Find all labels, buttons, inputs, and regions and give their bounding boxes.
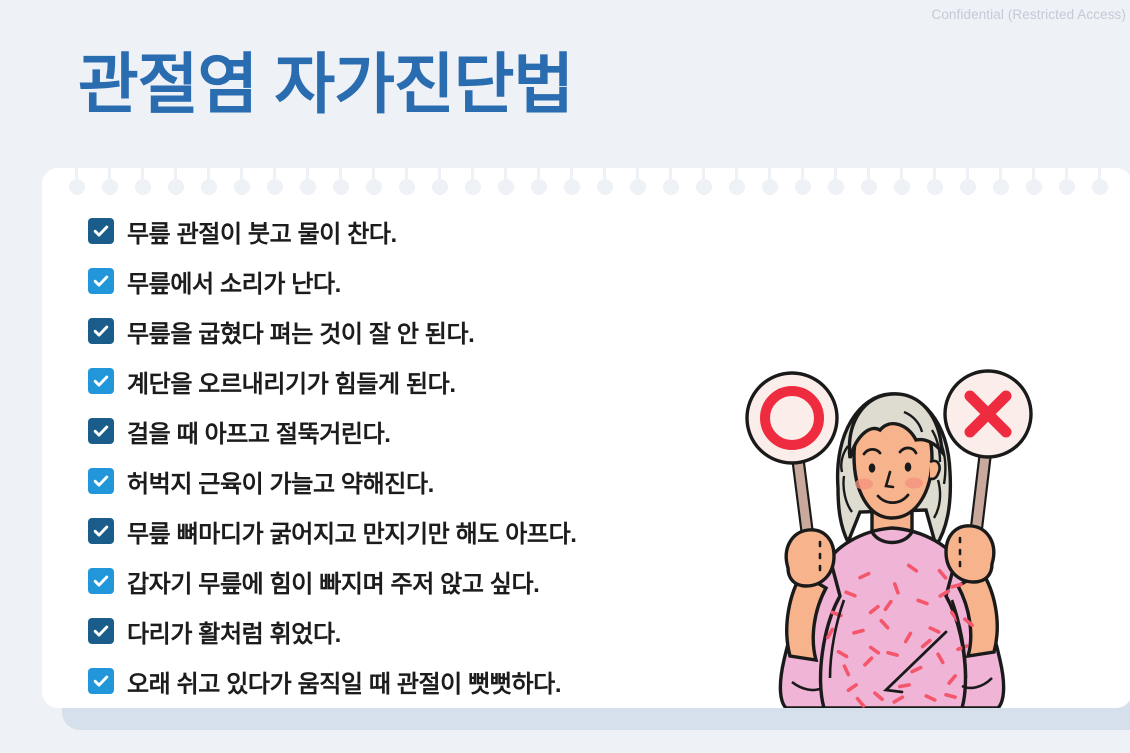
checklist-item-label: 무릎을 굽혔다 펴는 것이 잘 안 된다. <box>127 314 474 349</box>
perforation-notch <box>555 168 588 202</box>
checkbox-checked-icon[interactable] <box>88 668 114 694</box>
checklist-item-label: 걸을 때 아프고 절뚝거린다. <box>127 414 391 449</box>
checkbox-checked-icon[interactable] <box>88 418 114 444</box>
perforation-notch <box>159 168 192 202</box>
checklist-row[interactable]: 오래 쉬고 있다가 움직일 때 관절이 뻣뻣하다. <box>88 656 728 706</box>
checkbox-checked-icon[interactable] <box>88 218 114 244</box>
perforation-notch <box>225 168 258 202</box>
perforation-notch <box>984 168 1017 202</box>
perforation-notch <box>1050 168 1083 202</box>
perforation-notch <box>324 168 357 202</box>
perforation-notch <box>522 168 555 202</box>
checkbox-checked-icon[interactable] <box>88 468 114 494</box>
checklist-item-label: 다리가 활처럼 휘었다. <box>127 614 341 649</box>
perforation-notch <box>621 168 654 202</box>
perforation-notch <box>291 168 324 202</box>
page-title: 관절염 자가진단법 <box>78 48 573 121</box>
checkbox-checked-icon[interactable] <box>88 618 114 644</box>
checkbox-checked-icon[interactable] <box>88 568 114 594</box>
checklist-item-label: 갑자기 무릎에 힘이 빠지며 주저 앉고 싶다. <box>127 564 539 599</box>
checklist-row[interactable]: 무릎을 굽혔다 펴는 것이 잘 안 된다. <box>88 306 728 356</box>
checklist-item-label: 무릎 뼈마디가 굵어지고 만지기만 해도 아프다. <box>127 514 577 549</box>
checklist-row[interactable]: 갑자기 무릎에 힘이 빠지며 주저 앉고 싶다. <box>88 556 728 606</box>
checkbox-checked-icon[interactable] <box>88 268 114 294</box>
checklist-item-label: 계단을 오르내리기가 힘들게 된다. <box>127 364 456 399</box>
perforation-notch <box>390 168 423 202</box>
perforation-notch <box>1017 168 1050 202</box>
perforation-notch <box>687 168 720 202</box>
perforation-notch <box>918 168 951 202</box>
checklist-row[interactable]: 무릎 관절이 붓고 물이 찬다. <box>88 206 728 256</box>
checklist-row[interactable]: 다리가 활처럼 휘었다. <box>88 606 728 656</box>
checkbox-checked-icon[interactable] <box>88 318 114 344</box>
perforation-notch <box>489 168 522 202</box>
perforation-notch <box>786 168 819 202</box>
perforation-notch <box>654 168 687 202</box>
checklist-row[interactable]: 걸을 때 아프고 절뚝거린다. <box>88 406 728 456</box>
perforation-notch <box>1083 168 1116 202</box>
perforation-notch <box>819 168 852 202</box>
checklist: 무릎 관절이 붓고 물이 찬다.무릎에서 소리가 난다.무릎을 굽혔다 펴는 것… <box>88 206 728 706</box>
perforation-notch <box>423 168 456 202</box>
checkbox-checked-icon[interactable] <box>88 368 114 394</box>
checkbox-checked-icon[interactable] <box>88 518 114 544</box>
perforation-strip <box>42 168 1130 202</box>
checklist-item-label: 무릎에서 소리가 난다. <box>127 264 341 299</box>
perforation-notch <box>126 168 159 202</box>
checklist-row[interactable]: 무릎 뼈마디가 굵어지고 만지기만 해도 아프다. <box>88 506 728 556</box>
checklist-row[interactable]: 무릎에서 소리가 난다. <box>88 256 728 306</box>
checklist-item-label: 오래 쉬고 있다가 움직일 때 관절이 뻣뻣하다. <box>127 664 561 699</box>
perforation-notch <box>258 168 291 202</box>
perforation-notch <box>951 168 984 202</box>
perforation-notch <box>60 168 93 202</box>
perforation-notch <box>456 168 489 202</box>
checklist-row[interactable]: 계단을 오르내리기가 힘들게 된다. <box>88 356 728 406</box>
perforation-notch <box>753 168 786 202</box>
perforation-notch <box>885 168 918 202</box>
perforation-notch <box>192 168 225 202</box>
confidential-watermark: Confidential (Restricted Access) <box>931 7 1126 22</box>
checklist-card: 무릎 관절이 붓고 물이 찬다.무릎에서 소리가 난다.무릎을 굽혔다 펴는 것… <box>42 168 1130 708</box>
elderly-woman-illustration <box>740 360 1040 708</box>
perforation-notch <box>720 168 753 202</box>
perforation-notch <box>588 168 621 202</box>
perforation-notch <box>852 168 885 202</box>
checklist-item-label: 무릎 관절이 붓고 물이 찬다. <box>127 214 397 249</box>
perforation-notch <box>357 168 390 202</box>
checklist-item-label: 허벅지 근육이 가늘고 약해진다. <box>127 464 434 499</box>
checklist-row[interactable]: 허벅지 근육이 가늘고 약해진다. <box>88 456 728 506</box>
perforation-notch <box>93 168 126 202</box>
